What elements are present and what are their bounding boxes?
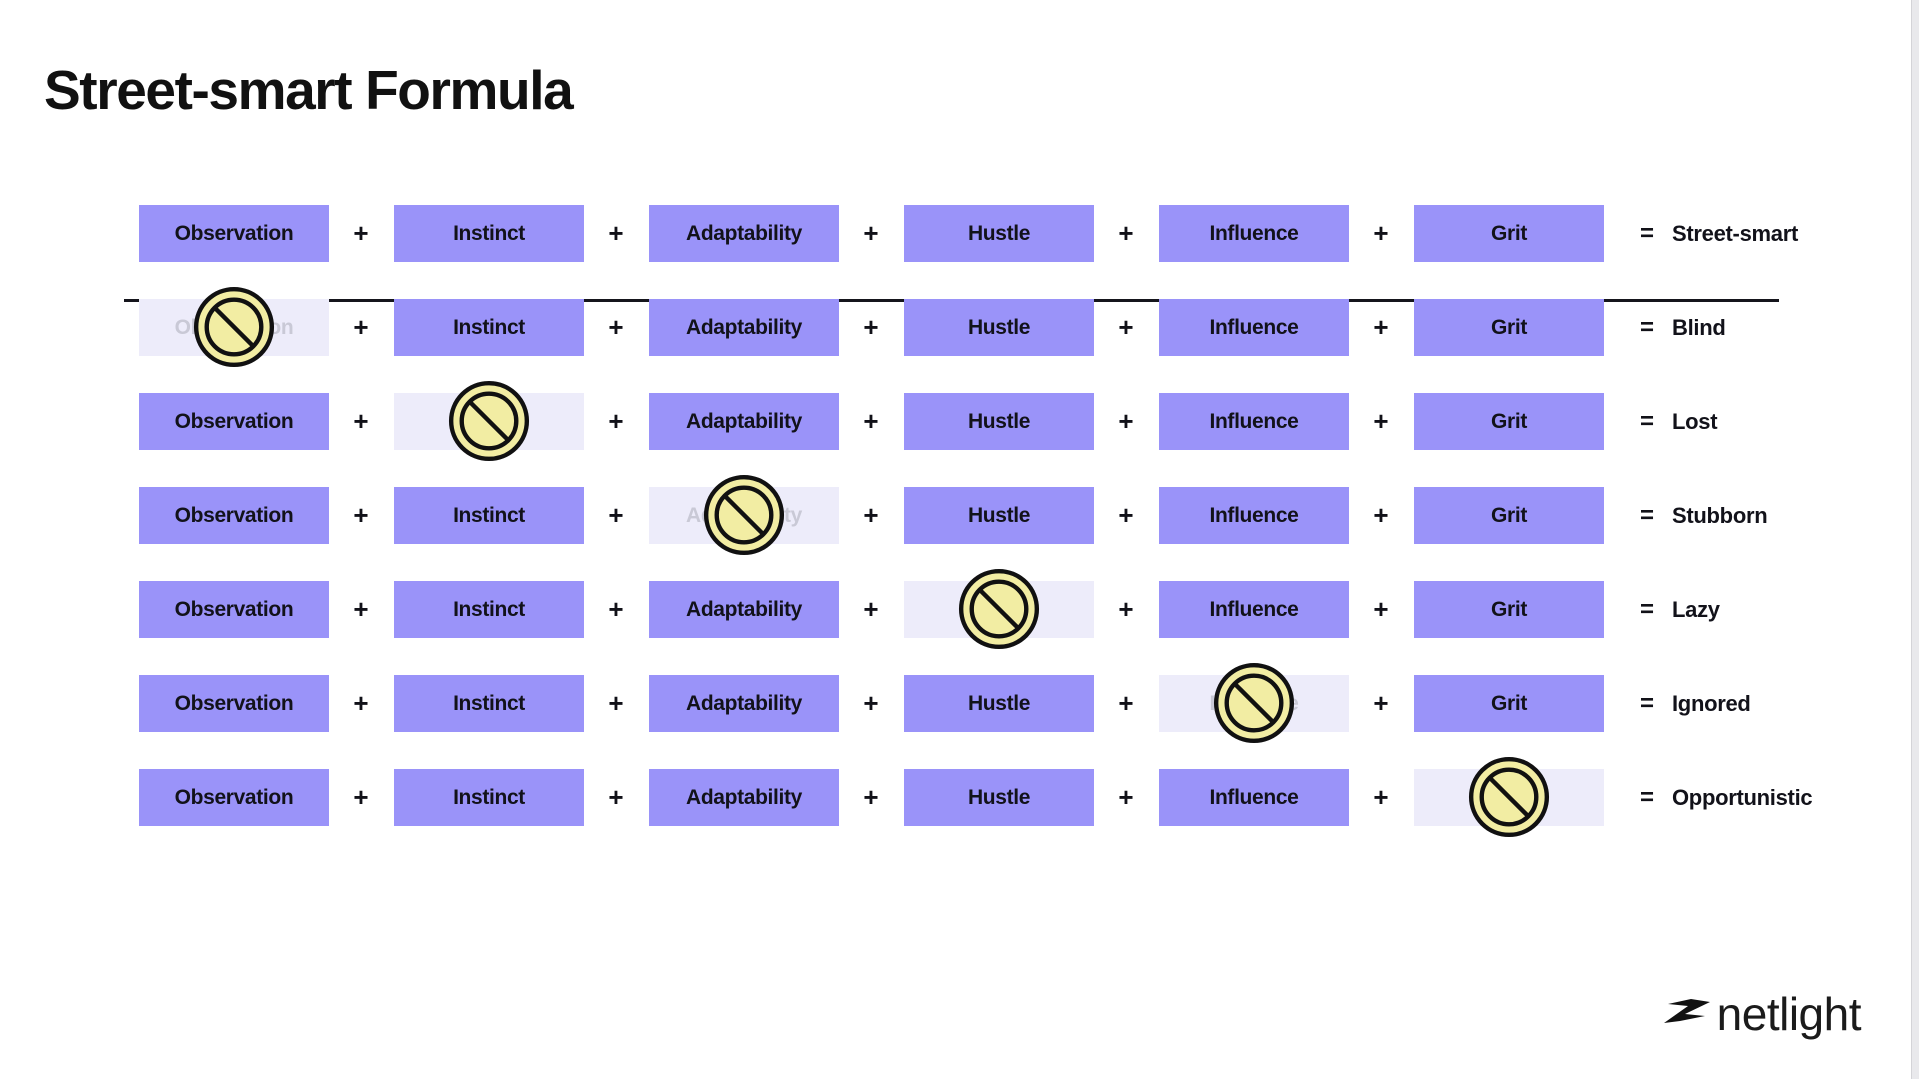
term-box-observation[interactable]: Observation bbox=[139, 487, 329, 544]
plus-operator: + bbox=[344, 487, 378, 544]
plus-operator: + bbox=[1109, 299, 1143, 356]
netlight-logo: netlight bbox=[1661, 991, 1861, 1037]
term-label: Adaptability bbox=[686, 786, 802, 810]
term-box-grit[interactable]: Grit bbox=[1414, 581, 1604, 638]
term-label: Instinct bbox=[453, 598, 525, 622]
term-box-grit[interactable]: Grit bbox=[1414, 675, 1604, 732]
term-box-hustle[interactable]: Hustle bbox=[904, 205, 1094, 262]
term-box-instinct[interactable]: Instinct bbox=[394, 581, 584, 638]
plus-operator: + bbox=[1364, 393, 1398, 450]
term-label: Instinct bbox=[453, 410, 525, 434]
term-label: Influence bbox=[1209, 316, 1298, 340]
term-box-observation[interactable]: Observation bbox=[139, 299, 329, 356]
term-box-adaptability[interactable]: Adaptability bbox=[649, 205, 839, 262]
term-label: Hustle bbox=[968, 598, 1030, 622]
term-label: Instinct bbox=[453, 504, 525, 528]
term-label: Grit bbox=[1491, 598, 1527, 622]
netlight-bowtie-icon bbox=[1661, 992, 1713, 1037]
term-label: Observation bbox=[175, 692, 294, 716]
term-label: Hustle bbox=[968, 316, 1030, 340]
term-label: Instinct bbox=[453, 786, 525, 810]
term-label: Hustle bbox=[968, 786, 1030, 810]
plus-operator: + bbox=[1109, 581, 1143, 638]
result-label-opportunistic: Opportunistic bbox=[1672, 769, 1812, 826]
equals-operator: = bbox=[1630, 205, 1664, 262]
plus-operator: + bbox=[599, 487, 633, 544]
plus-operator: + bbox=[1364, 487, 1398, 544]
plus-operator: + bbox=[599, 205, 633, 262]
term-box-instinct[interactable]: Instinct bbox=[394, 675, 584, 732]
term-box-adaptability[interactable]: Adaptability bbox=[649, 487, 839, 544]
term-box-hustle[interactable]: Hustle bbox=[904, 393, 1094, 450]
term-box-influence[interactable]: Influence bbox=[1159, 393, 1349, 450]
term-box-grit[interactable]: Grit bbox=[1414, 769, 1604, 826]
term-box-observation[interactable]: Observation bbox=[139, 205, 329, 262]
term-box-adaptability[interactable]: Adaptability bbox=[649, 675, 839, 732]
plus-operator: + bbox=[854, 675, 888, 732]
plus-operator: + bbox=[1364, 299, 1398, 356]
result-label-lazy: Lazy bbox=[1672, 581, 1720, 638]
term-label: Grit bbox=[1491, 692, 1527, 716]
term-label: Influence bbox=[1209, 222, 1298, 246]
result-label-blind: Blind bbox=[1672, 299, 1726, 356]
formula-table: Observation+Instinct+Adaptability+Hustle… bbox=[0, 205, 1919, 826]
plus-operator: + bbox=[1109, 675, 1143, 732]
term-box-hustle[interactable]: Hustle bbox=[904, 299, 1094, 356]
plus-operator: + bbox=[854, 769, 888, 826]
term-label: Grit bbox=[1491, 316, 1527, 340]
term-label: Adaptability bbox=[686, 222, 802, 246]
term-box-grit[interactable]: Grit bbox=[1414, 299, 1604, 356]
term-box-hustle[interactable]: Hustle bbox=[904, 487, 1094, 544]
term-label: Hustle bbox=[968, 692, 1030, 716]
slide: Street-smart Formula Observation+Instinc… bbox=[0, 0, 1919, 1079]
formula-row: Observation+Instinct+Adaptability+Hustle… bbox=[0, 487, 1919, 544]
page-title: Street-smart Formula bbox=[44, 58, 572, 122]
plus-operator: + bbox=[599, 299, 633, 356]
term-box-hustle[interactable]: Hustle bbox=[904, 675, 1094, 732]
plus-operator: + bbox=[344, 769, 378, 826]
plus-operator: + bbox=[599, 393, 633, 450]
term-box-observation[interactable]: Observation bbox=[139, 581, 329, 638]
plus-operator: + bbox=[1109, 393, 1143, 450]
term-label: Hustle bbox=[968, 222, 1030, 246]
term-label: Grit bbox=[1491, 222, 1527, 246]
term-label: Influence bbox=[1209, 410, 1298, 434]
term-label: Influence bbox=[1209, 598, 1298, 622]
term-label: Grit bbox=[1491, 410, 1527, 434]
result-label-stubborn: Stubborn bbox=[1672, 487, 1767, 544]
term-label: Observation bbox=[175, 316, 294, 340]
plus-operator: + bbox=[1364, 205, 1398, 262]
term-label: Adaptability bbox=[686, 598, 802, 622]
term-box-influence[interactable]: Influence bbox=[1159, 675, 1349, 732]
formula-row: Observation+Instinct+Adaptability+Hustle… bbox=[0, 581, 1919, 638]
term-label: Influence bbox=[1209, 692, 1298, 716]
term-box-grit[interactable]: Grit bbox=[1414, 487, 1604, 544]
plus-operator: + bbox=[1109, 487, 1143, 544]
plus-operator: + bbox=[599, 675, 633, 732]
term-box-adaptability[interactable]: Adaptability bbox=[649, 393, 839, 450]
term-label: Observation bbox=[175, 222, 294, 246]
formula-row: Observation+Instinct+Adaptability+Hustle… bbox=[0, 769, 1919, 826]
netlight-wordmark: netlight bbox=[1717, 991, 1861, 1037]
term-label: Hustle bbox=[968, 410, 1030, 434]
term-box-grit[interactable]: Grit bbox=[1414, 205, 1604, 262]
term-box-adaptability[interactable]: Adaptability bbox=[649, 299, 839, 356]
plus-operator: + bbox=[1364, 769, 1398, 826]
equals-operator: = bbox=[1630, 675, 1664, 732]
term-box-hustle[interactable]: Hustle bbox=[904, 769, 1094, 826]
term-box-influence[interactable]: Influence bbox=[1159, 299, 1349, 356]
term-label: Grit bbox=[1491, 786, 1527, 810]
plus-operator: + bbox=[344, 393, 378, 450]
term-label: Observation bbox=[175, 786, 294, 810]
plus-operator: + bbox=[854, 581, 888, 638]
term-box-observation[interactable]: Observation bbox=[139, 393, 329, 450]
term-label: Adaptability bbox=[686, 410, 802, 434]
term-label: Instinct bbox=[453, 692, 525, 716]
term-label: Adaptability bbox=[686, 504, 802, 528]
plus-operator: + bbox=[854, 487, 888, 544]
term-label: Instinct bbox=[453, 222, 525, 246]
equals-operator: = bbox=[1630, 769, 1664, 826]
equals-operator: = bbox=[1630, 487, 1664, 544]
term-box-instinct[interactable]: Instinct bbox=[394, 393, 584, 450]
term-label: Influence bbox=[1209, 504, 1298, 528]
plus-operator: + bbox=[599, 769, 633, 826]
term-box-instinct[interactable]: Instinct bbox=[394, 769, 584, 826]
plus-operator: + bbox=[1109, 769, 1143, 826]
plus-operator: + bbox=[599, 581, 633, 638]
term-box-observation[interactable]: Observation bbox=[139, 675, 329, 732]
term-box-adaptability[interactable]: Adaptability bbox=[649, 581, 839, 638]
term-box-influence[interactable]: Influence bbox=[1159, 581, 1349, 638]
term-box-adaptability[interactable]: Adaptability bbox=[649, 769, 839, 826]
term-label: Observation bbox=[175, 598, 294, 622]
term-box-influence[interactable]: Influence bbox=[1159, 487, 1349, 544]
plus-operator: + bbox=[854, 205, 888, 262]
term-box-hustle[interactable]: Hustle bbox=[904, 581, 1094, 638]
term-label: Grit bbox=[1491, 504, 1527, 528]
plus-operator: + bbox=[1109, 205, 1143, 262]
term-box-grit[interactable]: Grit bbox=[1414, 393, 1604, 450]
term-box-instinct[interactable]: Instinct bbox=[394, 299, 584, 356]
term-box-influence[interactable]: Influence bbox=[1159, 205, 1349, 262]
plus-operator: + bbox=[344, 299, 378, 356]
term-box-instinct[interactable]: Instinct bbox=[394, 205, 584, 262]
plus-operator: + bbox=[854, 299, 888, 356]
equals-operator: = bbox=[1630, 581, 1664, 638]
result-label-lost: Lost bbox=[1672, 393, 1717, 450]
formula-row: Observation+Instinct+Adaptability+Hustle… bbox=[0, 299, 1919, 356]
term-label: Adaptability bbox=[686, 316, 802, 340]
term-label: Observation bbox=[175, 410, 294, 434]
plus-operator: + bbox=[854, 393, 888, 450]
equals-operator: = bbox=[1630, 393, 1664, 450]
term-label: Adaptability bbox=[686, 692, 802, 716]
formula-row: Observation+Instinct+Adaptability+Hustle… bbox=[0, 205, 1919, 262]
equals-operator: = bbox=[1630, 299, 1664, 356]
term-box-observation[interactable]: Observation bbox=[139, 769, 329, 826]
formula-row: Observation+Instinct+Adaptability+Hustle… bbox=[0, 675, 1919, 732]
plus-operator: + bbox=[1364, 581, 1398, 638]
term-label: Observation bbox=[175, 504, 294, 528]
plus-operator: + bbox=[344, 675, 378, 732]
term-label: Influence bbox=[1209, 786, 1298, 810]
result-label-ignored: Ignored bbox=[1672, 675, 1751, 732]
result-label-street-smart: Street-smart bbox=[1672, 205, 1798, 262]
term-box-instinct[interactable]: Instinct bbox=[394, 487, 584, 544]
plus-operator: + bbox=[1364, 675, 1398, 732]
plus-operator: + bbox=[344, 205, 378, 262]
term-label: Instinct bbox=[453, 316, 525, 340]
plus-operator: + bbox=[344, 581, 378, 638]
formula-row: Observation+Instinct+Adaptability+Hustle… bbox=[0, 393, 1919, 450]
term-label: Hustle bbox=[968, 504, 1030, 528]
term-box-influence[interactable]: Influence bbox=[1159, 769, 1349, 826]
